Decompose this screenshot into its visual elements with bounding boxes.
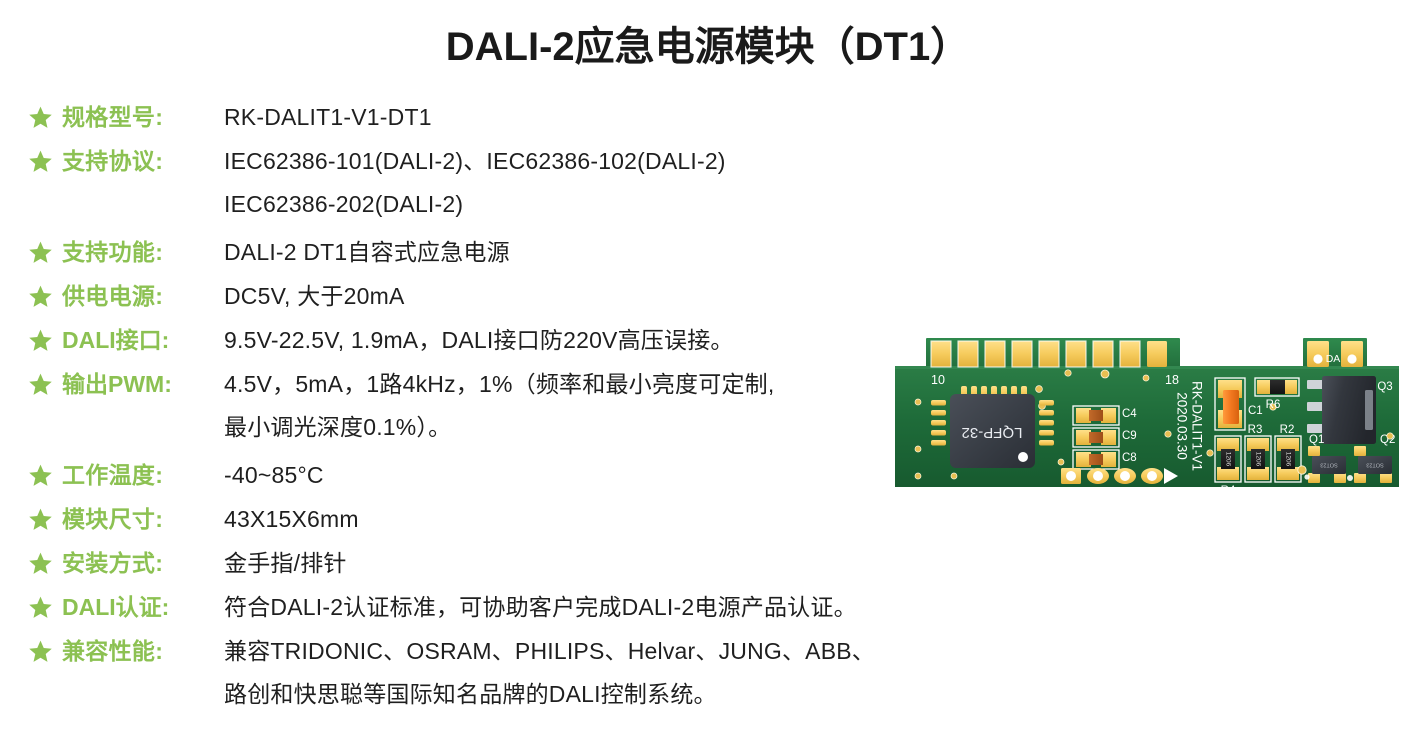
spec-value: DC5V, 大于20mA — [224, 279, 948, 313]
star-icon — [28, 328, 53, 353]
pcb-resistor-code-r3: 1206 — [1254, 452, 1261, 467]
spec-value: 43X15X6mm — [224, 502, 948, 536]
star-icon — [28, 639, 53, 664]
spec-value: 4.5V，5mA，1路4kHz，1%（频率和最小亮度可定制, 最小调光深度0.1… — [224, 367, 948, 444]
spec-value-line2: 路创和快思聪等国际知名品牌的DALI控制系统。 — [224, 677, 948, 711]
spec-row: 输出PWM: 4.5V，5mA，1路4kHz，1%（频率和最小亮度可定制, 最小… — [28, 367, 948, 444]
spec-value: RK-DALIT1-V1-DT1 — [224, 100, 948, 134]
star-icon — [28, 372, 53, 397]
pcb-silk-r4: R4 — [1221, 485, 1236, 497]
spec-value-line1: DALI-2 DT1自容式应急电源 — [224, 239, 510, 265]
spec-label: 支持协议: — [62, 144, 224, 178]
spec-value-line2: 最小调光深度0.1%）。 — [224, 410, 948, 444]
star-icon — [28, 105, 53, 130]
pcb-silk-c1: C1 — [1248, 405, 1263, 417]
pcb-via-bottom-2 — [1304, 474, 1309, 479]
star-icon — [28, 463, 53, 488]
spec-value-line1: 4.5V，5mA，1路4kHz，1%（频率和最小亮度可定制, — [224, 371, 774, 397]
spec-label: DALI接口: — [62, 323, 224, 357]
pcb-silk-r2: R2 — [1280, 424, 1295, 436]
spec-row: 供电电源: DC5V, 大于20mA — [28, 279, 948, 313]
spec-label: 供电电源: — [62, 279, 224, 313]
spec-label: 兼容性能: — [62, 634, 224, 668]
spec-value-line1: 金手指/排针 — [224, 550, 347, 576]
product-spec-page: DALI-2应急电源模块（DT1） 规格型号: RK-DALIT1-V1-DT1… — [0, 0, 1416, 750]
pcb-resistor-r6 — [1255, 378, 1299, 396]
spec-label: 支持功能: — [62, 235, 224, 269]
star-bullet — [28, 546, 62, 576]
spec-label: 工作温度: — [62, 458, 224, 492]
star-bullet — [28, 502, 62, 532]
star-bullet — [28, 367, 62, 397]
star-icon — [28, 284, 53, 309]
star-bullet — [28, 590, 62, 620]
spec-value-line1: RK-DALIT1-V1-DT1 — [224, 104, 432, 130]
pcb-via-right — [1387, 433, 1393, 439]
star-icon — [28, 551, 53, 576]
pcb-silk-chip-label: LQFP-32 — [962, 424, 1023, 441]
page-title: DALI-2应急电源模块（DT1） — [0, 14, 1416, 72]
spec-row: DALI接口: 9.5V-22.5V, 1.9mA，DALI接口防220V高压误… — [28, 323, 948, 357]
pcb-silk-board-id: RK-DALIT1-V1 — [1189, 381, 1204, 471]
spec-value: -40~85°C — [224, 458, 948, 492]
pcb-silk-r6: R6 — [1266, 399, 1281, 411]
pcb-resistor-code-r4: 1206 — [1224, 452, 1231, 467]
pcb-resistor-code-r2: 1206 — [1284, 452, 1291, 467]
pcb-q1-package-code: SOT23 — [1320, 462, 1337, 468]
star-bullet — [28, 100, 62, 130]
pcb-capacitor-group — [1073, 406, 1119, 469]
star-icon — [28, 595, 53, 620]
star-bullet — [28, 279, 62, 309]
spec-row: 模块尺寸: 43X15X6mm — [28, 502, 948, 536]
spec-label: DALI认证: — [62, 590, 224, 624]
pcb-chip-pin1-marker — [1018, 452, 1028, 462]
star-bullet — [28, 634, 62, 664]
star-icon — [28, 240, 53, 265]
star-bullet — [28, 235, 62, 265]
spec-label: 模块尺寸: — [62, 502, 224, 536]
spec-value: 符合DALI-2认证标准，可协助客户完成DALI-2电源产品认证。 — [224, 590, 948, 624]
spec-value-line1: 43X15X6mm — [224, 506, 359, 532]
spec-value: 金手指/排针 — [224, 546, 948, 580]
pcb-q2-package-code: SOT23 — [1366, 462, 1383, 468]
star-bullet — [28, 458, 62, 488]
pcb-silk-da: DA — [1326, 353, 1341, 365]
spec-list: 规格型号: RK-DALIT1-V1-DT1 支持协议: IEC62386-10… — [28, 100, 948, 721]
spec-value-line1: 符合DALI-2认证标准，可协助客户完成DALI-2电源产品认证。 — [224, 594, 857, 620]
spec-value: DALI-2 DT1自容式应急电源 — [224, 235, 948, 269]
spec-row: 兼容性能: 兼容TRIDONIC、OSRAM、PHILIPS、Helvar、JU… — [28, 634, 948, 711]
pcb-silk-q3: Q3 — [1377, 381, 1392, 393]
pcb-via-r2 — [1298, 466, 1306, 474]
spec-row: 支持功能: DALI-2 DT1自容式应急电源 — [28, 235, 948, 269]
spec-value-line1: 9.5V-22.5V, 1.9mA，DALI接口防220V高压误接。 — [224, 327, 734, 353]
star-icon — [28, 507, 53, 532]
pcb-silk-c8: C8 — [1122, 452, 1137, 464]
spec-value: IEC62386-101(DALI-2)、IEC62386-102(DALI-2… — [224, 144, 948, 221]
spec-row: 工作温度: -40~85°C — [28, 458, 948, 492]
spec-row: 规格型号: RK-DALIT1-V1-DT1 — [28, 100, 948, 134]
pcb-product-image: DA 10 18 — [893, 318, 1401, 518]
pcb-resistor-bank: 1206 1206 1206 — [1215, 436, 1301, 482]
star-icon — [28, 149, 53, 174]
pcb-silk-q1: Q1 — [1309, 434, 1324, 446]
pcb-silk-pin-left: 10 — [931, 373, 945, 387]
spec-label: 安装方式: — [62, 546, 224, 580]
spec-value-line1: IEC62386-101(DALI-2)、IEC62386-102(DALI-2… — [224, 148, 726, 174]
pcb-gold-fingers — [931, 341, 1167, 367]
spec-label: 输出PWM: — [62, 367, 224, 401]
pcb-silk-c4: C4 — [1122, 408, 1137, 420]
pcb-via-bottom — [1347, 475, 1353, 481]
pcb-silk-pin-right: 18 — [1165, 373, 1179, 387]
spec-value-line1: -40~85°C — [224, 462, 324, 488]
star-bullet — [28, 323, 62, 353]
spec-row: 支持协议: IEC62386-101(DALI-2)、IEC62386-102(… — [28, 144, 948, 221]
spec-row: 安装方式: 金手指/排针 — [28, 546, 948, 580]
pcb-silk-r3: R3 — [1248, 424, 1263, 436]
spec-value-line2: IEC62386-202(DALI-2) — [224, 187, 948, 221]
spec-row: DALI认证: 符合DALI-2认证标准，可协助客户完成DALI-2电源产品认证… — [28, 590, 948, 624]
spec-value: 9.5V-22.5V, 1.9mA，DALI接口防220V高压误接。 — [224, 323, 948, 357]
pcb-silk-date-code: 2020.03.30 — [1174, 392, 1189, 460]
star-bullet — [28, 144, 62, 174]
spec-label: 规格型号: — [62, 100, 224, 134]
spec-value-line1: DC5V, 大于20mA — [224, 283, 405, 309]
pcb-render-svg: DA 10 18 — [893, 318, 1401, 518]
spec-value-line1: 兼容TRIDONIC、OSRAM、PHILIPS、Helvar、JUNG、ABB… — [224, 638, 875, 664]
spec-value: 兼容TRIDONIC、OSRAM、PHILIPS、Helvar、JUNG、ABB… — [224, 634, 948, 711]
pcb-silk-c9: C9 — [1122, 430, 1137, 442]
